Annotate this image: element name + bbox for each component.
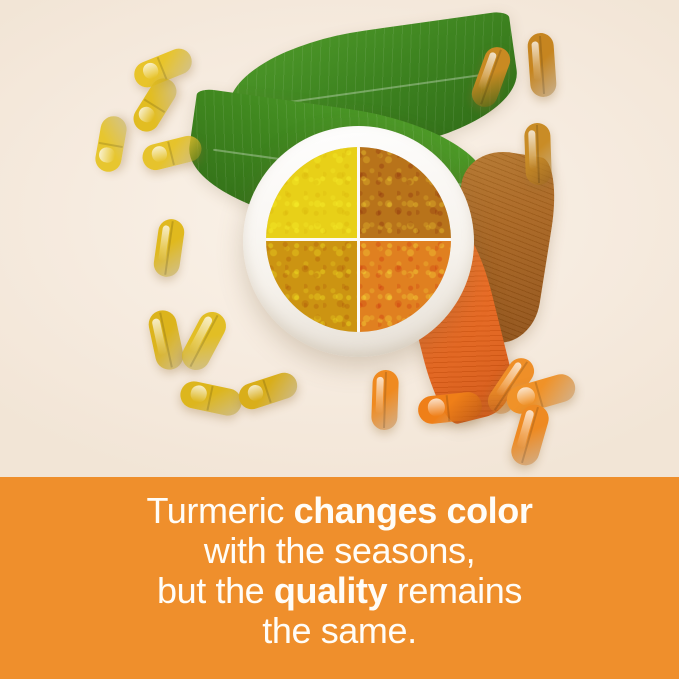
powder-grain-texture: [266, 240, 359, 333]
powder-grain-texture: [359, 147, 452, 240]
capsule-9: [235, 369, 300, 412]
capsule-7: [177, 307, 231, 375]
capsule-10: [371, 370, 399, 431]
capsule-3: [93, 114, 128, 174]
caption-line-2-regular: with the seasons,: [204, 530, 475, 571]
bowl-interior: [266, 147, 451, 332]
caption-line-1-bold: changes color: [294, 490, 533, 531]
caption-line-3-regular-b: remains: [387, 570, 522, 611]
powder-grain-texture: [266, 147, 359, 240]
capsule-14: [524, 123, 552, 186]
caption-line-3-regular-a: but the: [157, 570, 274, 611]
turmeric-product-photo: [0, 0, 679, 477]
capsule-13: [527, 32, 557, 98]
caption-line-3: but the quality remains: [157, 571, 522, 611]
caption-line-1-regular: Turmeric: [147, 490, 294, 531]
capsule-11: [417, 391, 484, 426]
caption-line-4: the same.: [262, 611, 416, 651]
capsule-6: [146, 308, 186, 373]
caption-line-3-bold: quality: [274, 570, 387, 611]
capsule-8: [178, 379, 244, 418]
powder-grain-texture: [359, 240, 452, 333]
caption-line-1: Turmeric changes color: [147, 491, 533, 531]
powder-quadrant-top-right: [359, 147, 452, 240]
capsule-5: [152, 217, 186, 278]
product-lifestyle-image: Turmeric changes color with the seasons,…: [0, 0, 679, 679]
caption-banner: Turmeric changes color with the seasons,…: [0, 477, 679, 679]
quadrant-divider-horizontal: [266, 238, 451, 241]
powder-quadrant-bottom-left: [266, 240, 359, 333]
caption-line-2: with the seasons,: [204, 531, 475, 571]
turmeric-bowl: [243, 126, 474, 357]
caption-line-4-regular: the same.: [262, 610, 416, 651]
powder-quadrant-bottom-right: [359, 240, 452, 333]
powder-quadrant-top-left: [266, 147, 359, 240]
